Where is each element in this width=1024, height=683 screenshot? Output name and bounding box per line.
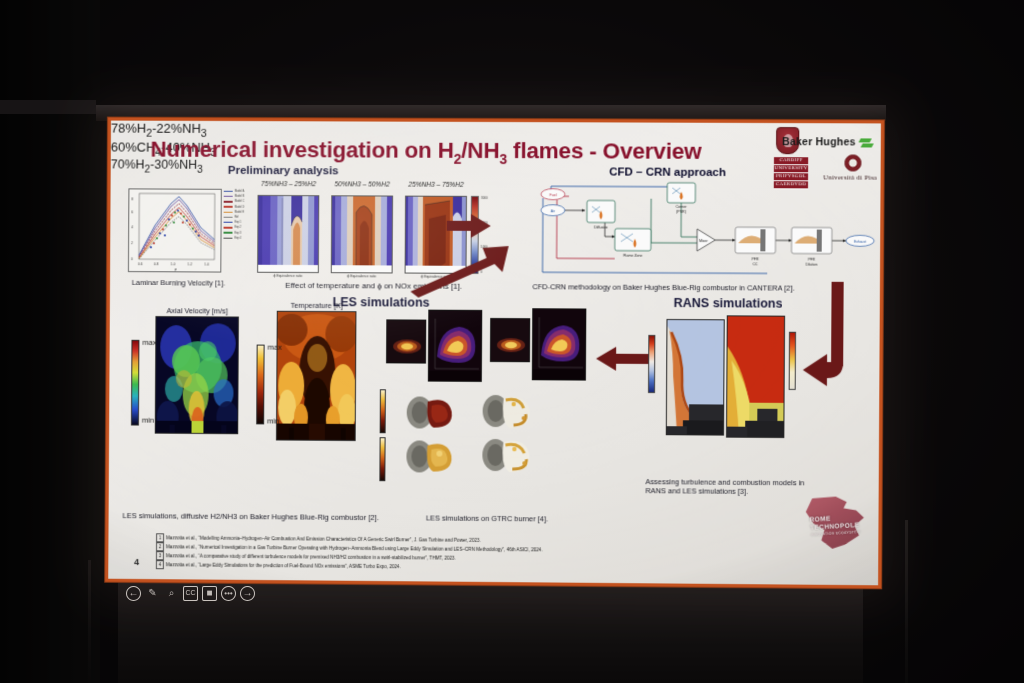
caption-gtrc: LES simulations on GTRC burner [4]. [407, 513, 567, 524]
caption-les: LES simulations, diffusive H2/NH3 on Bak… [122, 511, 421, 523]
section-title-cfd-crn: CFD – CRN approach [609, 166, 726, 179]
les-axial-velocity-title: Axial Velocity [m/s] [153, 306, 240, 315]
svg-text:Diffusive: Diffusive [594, 225, 608, 229]
more-options-icon[interactable]: ••• [221, 586, 236, 601]
laminar-burning-velocity-legend: Model A Model B Model C Model D Model E … [223, 189, 251, 273]
contour-header-3: 25%NH3 – 75%H2 [397, 182, 475, 189]
next-slide-icon[interactable]: → [240, 586, 255, 601]
subtitles-icon[interactable]: CC [183, 586, 198, 601]
rome-technopole-label: ROME TECHNOPOLE INNOVATION ECOSYSTEM [809, 513, 877, 538]
svg-text:Flame Zone: Flame Zone [623, 254, 642, 258]
hanging-cable-left [88, 560, 91, 683]
temperature-colorbar-max: max [268, 343, 282, 352]
arrow-rans-to-les [592, 345, 654, 375]
blank-screen-icon[interactable]: ■ [202, 586, 217, 601]
gtrc-panel-3 [490, 318, 530, 362]
ceiling-strip [0, 100, 96, 114]
svg-text:4: 4 [131, 225, 133, 229]
projected-slide: Numerical investigation on H2/NH3 flames… [104, 117, 885, 590]
references-list: 1Mazzotta et al., “Modelling Ammonia–Hyd… [156, 533, 715, 574]
contour-axis-label-1: ϕ Equivalence ratio [257, 274, 319, 278]
rans-velocity-field [666, 319, 725, 436]
axial-velocity-colorbar-max: max [142, 338, 156, 347]
baker-hughes-logo: Baker Hughes [782, 131, 881, 153]
gtrc-iso-surface-2 [480, 388, 538, 434]
svg-text:PFR: PFR [752, 257, 759, 261]
nox-contour-panel-2 [331, 195, 393, 273]
arrow-crn-to-rans [799, 282, 854, 393]
svg-text:1.4: 1.4 [204, 262, 209, 266]
section-title-preliminary: Preliminary analysis [228, 165, 339, 177]
svg-text:φ: φ [175, 267, 177, 271]
gtrc-panel-1 [386, 319, 426, 363]
svg-text:Fuel: Fuel [549, 193, 556, 197]
baker-hughes-label: Baker Hughes [782, 136, 856, 148]
baker-hughes-mark-icon [860, 136, 873, 149]
arrow-prelim-to-crn [445, 212, 495, 242]
cardiff-line1: CARDIFF [774, 157, 808, 165]
svg-text:Exhaust: Exhaust [854, 240, 866, 244]
svg-text:2: 2 [131, 241, 133, 245]
svg-text:8: 8 [131, 197, 133, 201]
axial-velocity-colorbar-min: min [142, 416, 154, 425]
svg-text:1.0: 1.0 [171, 262, 176, 266]
caption-rans: Assessing turbulence and combustion mode… [645, 477, 826, 497]
gtrc-colorbar-1 [380, 389, 386, 433]
gtrc-iso-surface-1 [404, 389, 462, 435]
caption-laminar-burning-velocity: Laminar Burning Velocity [1]. [114, 278, 243, 288]
temperature-colorbar [256, 345, 264, 425]
previous-slide-icon[interactable]: ← [126, 586, 141, 601]
svg-text:0: 0 [131, 257, 133, 261]
svg-text:0.8: 0.8 [154, 262, 159, 266]
gtrc-iso-surface-3 [403, 433, 461, 479]
svg-text:Corner: Corner [676, 205, 688, 209]
dark-room-background: Numerical investigation on H2/NH3 flames… [0, 0, 1024, 683]
svg-text:Dilution: Dilution [806, 263, 818, 267]
slide-title: Numerical investigation on H2/NH3 flames… [150, 137, 669, 168]
arrow-diagonal-to-crn [408, 240, 513, 299]
laminar-burning-velocity-chart: 024 68 0.60.81.0 1.21.4 φ [128, 188, 222, 272]
rans-velocity-colorbar [648, 335, 655, 393]
gtrc-iso-surface-4 [479, 432, 537, 478]
gtrc-panel-4 [532, 308, 587, 380]
les-axial-velocity-field [155, 316, 239, 434]
hanging-cable [905, 520, 908, 683]
slide-content: Numerical investigation on H2/NH3 flames… [108, 121, 881, 586]
nox-contour-panel-1 [257, 195, 319, 273]
contour-header-1: 75%NH3 – 25%H2 [250, 181, 328, 188]
rans-temperature-colorbar [789, 332, 796, 390]
section-title-rans: RANS simulations [674, 296, 783, 311]
svg-text:6: 6 [131, 210, 133, 214]
pisa-seal-icon [844, 154, 861, 171]
contour-header-2: 50%NH3 – 50%H2 [323, 181, 401, 188]
svg-text:1.2: 1.2 [188, 262, 193, 266]
zoom-icon[interactable]: ⌕ [164, 586, 179, 601]
cardiff-line3: PRIFYSGOL [774, 173, 808, 181]
pen-icon[interactable]: ✎ [145, 586, 160, 601]
presentation-toolbar[interactable]: ← ✎ ⌕ CC ■ ••• → [126, 583, 282, 603]
page-number: 4 [134, 557, 139, 567]
temperature-colorbar-min: min [267, 416, 279, 425]
svg-text:PFR: PFR [808, 258, 815, 262]
cardiff-line2: UNIVERSITY [774, 165, 808, 173]
contour-axis-label-2: ϕ Equivalence ratio [331, 274, 393, 278]
svg-text:Mixer: Mixer [699, 239, 709, 243]
axial-velocity-colorbar [131, 340, 139, 426]
cfd-crn-network-diagram: Fuel Air Diffusive Flame Zone Corner [528, 180, 878, 282]
rome-technopole-logo: ROME TECHNOPOLE INNOVATION ECOSYSTEM [798, 496, 877, 549]
les-temperature-field [276, 311, 356, 441]
gtrc-panel-2 [428, 310, 482, 382]
gtrc-colorbar-2 [379, 437, 385, 481]
rans-temperature-field [726, 315, 785, 438]
svg-text:CC: CC [753, 262, 759, 266]
svg-text:0.6: 0.6 [138, 262, 143, 266]
pisa-label: Università di Pisa [823, 173, 877, 181]
les-temperature-title: Temperature [K] [273, 301, 361, 310]
svg-text:(PSR): (PSR) [676, 210, 686, 214]
